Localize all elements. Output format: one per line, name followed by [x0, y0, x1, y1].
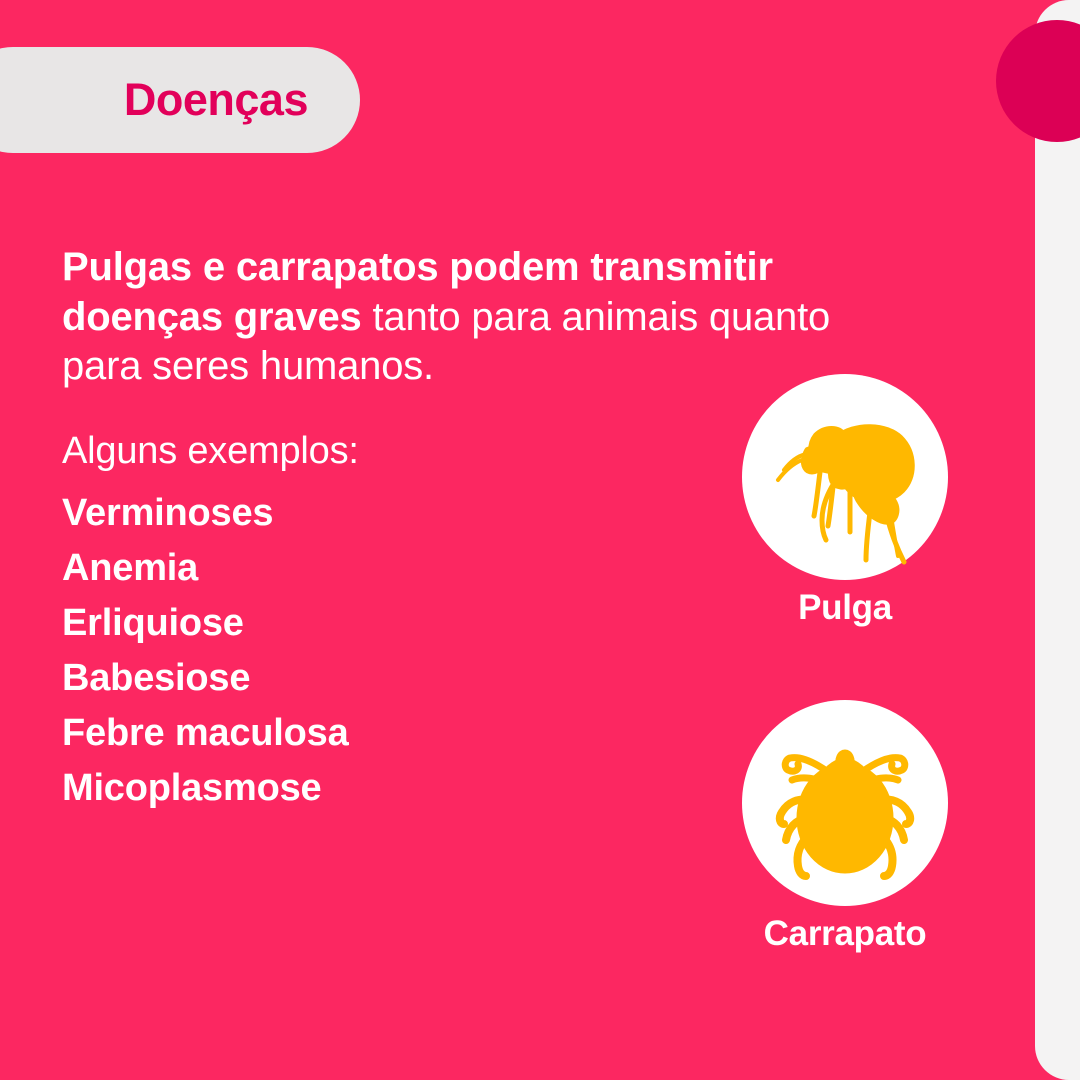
figure-tick: Carrapato [742, 700, 948, 954]
section-title-pill: Doenças [0, 47, 360, 153]
list-item: Anemia [62, 549, 682, 587]
figure-caption-flea: Pulga [742, 588, 948, 628]
corner-decoration-circle [996, 20, 1080, 142]
right-edge-panel [1035, 0, 1080, 1080]
list-item: Febre maculosa [62, 714, 682, 752]
examples-block: Alguns exemplos: Verminoses Anemia Erliq… [62, 432, 682, 824]
figure-flea: Pulga [742, 374, 948, 628]
flea-icon [742, 374, 948, 580]
list-item: Verminoses [62, 494, 682, 532]
disease-list: Verminoses Anemia Erliquiose Babesiose F… [62, 494, 682, 807]
list-item: Babesiose [62, 659, 682, 697]
slide-canvas: Doenças Pulgas e carrapatos podem transm… [0, 0, 1080, 1080]
list-item: Micoplasmose [62, 769, 682, 807]
examples-lead-label: Alguns exemplos: [62, 432, 682, 470]
page-title: Doenças [124, 74, 308, 126]
tick-icon [742, 700, 948, 906]
tick-disc [742, 700, 948, 906]
intro-paragraph: Pulgas e carrapatos podem transmitir doe… [62, 243, 852, 392]
figure-caption-tick: Carrapato [742, 914, 948, 954]
flea-disc [742, 374, 948, 580]
list-item: Erliquiose [62, 604, 682, 642]
